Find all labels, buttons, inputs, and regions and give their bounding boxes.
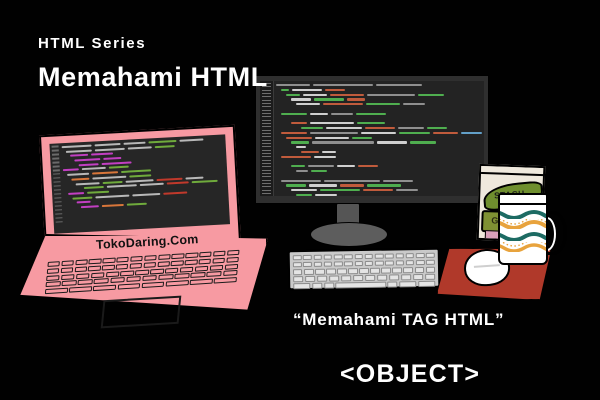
laptop-screen — [49, 134, 230, 233]
html-tag-label: <OBJECT> — [340, 360, 480, 389]
code-line — [276, 141, 482, 143]
code-line — [276, 98, 482, 100]
code-line — [276, 137, 482, 139]
subtitle-quote: “Memahami TAG HTML” — [293, 310, 504, 330]
monitor-code-text — [276, 84, 482, 194]
series-label: HTML Series — [38, 35, 146, 52]
mug-stripe-teal-1 — [498, 209, 548, 219]
code-line — [276, 122, 482, 124]
code-line — [276, 132, 482, 134]
laptop-trackpad — [101, 296, 182, 329]
coffee-mug — [498, 193, 548, 265]
code-line — [276, 175, 482, 177]
mug-stripe-teal-2 — [498, 231, 548, 241]
snack-bag-top-fold — [479, 164, 545, 176]
mug-stripe-orange-2 — [498, 242, 548, 252]
poster-canvas: TokoDaring.Com STACH GG — [0, 0, 600, 400]
code-line — [276, 113, 482, 115]
code-line — [276, 161, 482, 163]
monitor-stand-base — [310, 222, 388, 247]
laptop-code-text — [62, 137, 227, 231]
code-line — [276, 180, 482, 182]
code-line — [276, 103, 482, 105]
wireless-keyboard — [288, 248, 441, 291]
monitor-screen — [260, 81, 484, 196]
code-line — [276, 89, 482, 91]
code-line — [276, 84, 482, 86]
code-line — [276, 156, 482, 158]
keyboard-key-row — [293, 281, 435, 289]
code-line — [276, 146, 482, 148]
code-line — [276, 94, 482, 96]
mug-stripe-orange-1 — [498, 219, 548, 229]
code-line — [276, 108, 482, 110]
code-line — [276, 194, 482, 196]
code-line — [276, 170, 482, 172]
code-line — [276, 117, 482, 119]
code-line — [276, 151, 482, 153]
laptop-lid — [39, 125, 241, 253]
code-line — [276, 165, 482, 167]
code-line — [276, 127, 482, 129]
mug-rim — [499, 195, 547, 205]
pink-laptop — [10, 130, 270, 320]
code-line — [276, 184, 482, 186]
desktop-monitor — [255, 75, 489, 204]
page-title: Memahami HTML — [38, 62, 268, 93]
code-line — [276, 189, 482, 191]
